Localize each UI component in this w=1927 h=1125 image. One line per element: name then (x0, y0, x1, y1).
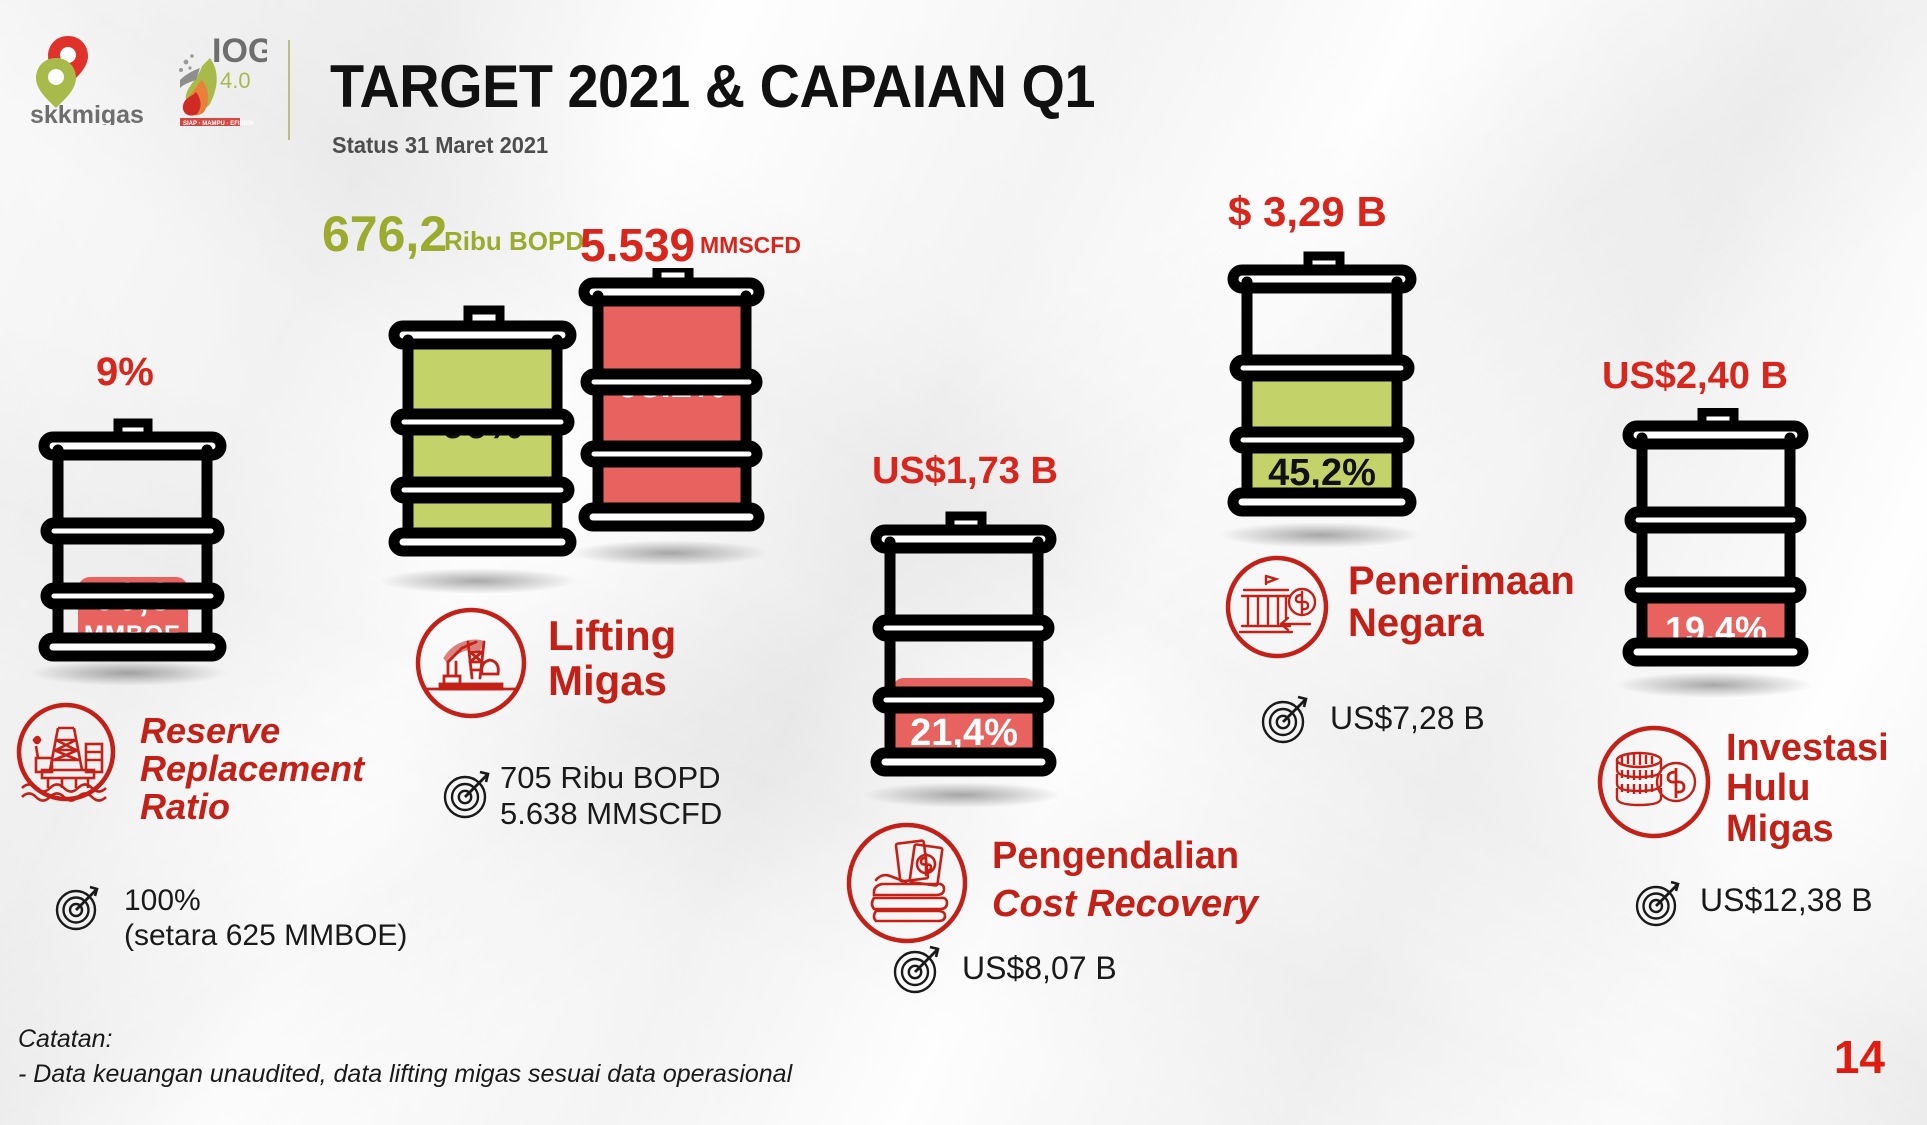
lifting-minyak-top-value: 676,2 (322, 205, 447, 263)
cost-recovery-caption-line1: Pengendalian (992, 836, 1239, 876)
cost-recovery-target-value: US$8,07 B (962, 950, 1117, 987)
investasi-caption: Investasi Hulu Migas (1726, 728, 1889, 849)
lifting-gas-barrel-outline (572, 268, 772, 543)
government-money-icon (1222, 552, 1332, 662)
penerimaan-negara-target-value: US$7,28 B (1330, 700, 1485, 737)
lifting-minyak-barrel-outline (380, 300, 585, 570)
slide-header: skkmigas IOG 4.0 SIAP · MAMPU · EFISIEN … (0, 0, 1927, 175)
cost-recovery-barrel-outline (864, 510, 1064, 788)
investasi-barrel-outline (1616, 408, 1816, 678)
barrel-penerimaan-negara: 45,2% (1220, 250, 1424, 528)
cost-recovery-target-icon (890, 940, 946, 996)
investasi-target-value: US$12,38 B (1700, 882, 1873, 919)
barrel-lifting-minyak: 96% (380, 300, 585, 570)
pumpjack-icon (412, 604, 530, 722)
penerimaan-negara-top-value: $ 3,29 B (1228, 188, 1387, 236)
lifting-gas-top-value: 5.539 (580, 218, 695, 272)
page-subtitle: Status 31 Maret 2021 (332, 132, 548, 159)
skkmigas-logo: skkmigas (28, 30, 153, 125)
offshore-rig-icon (14, 700, 119, 805)
svg-text:IOG: IOG (212, 32, 267, 70)
svg-text:4.0: 4.0 (220, 68, 251, 93)
lifting-gas-top-unit: MMSCFD (700, 232, 801, 259)
page-number: 14 (1834, 1030, 1885, 1084)
coins-dollar-icon (1594, 722, 1714, 842)
svg-text:skkmigas: skkmigas (30, 101, 144, 125)
lifting-migas-target-icon (440, 765, 496, 821)
penerimaan-negara-caption: Penerimaan Negara (1348, 560, 1575, 645)
barrel-lifting-gas: 98.2% (572, 268, 772, 543)
lifting-migas-caption: Lifting Migas (548, 614, 676, 703)
header-divider (288, 40, 290, 140)
barrel-pengendalian-cost-recovery: 21,4% (864, 510, 1064, 788)
lifting-migas-target-value: 705 Ribu BOPD 5.638 MMSCFD (500, 760, 722, 832)
barrel-investasi-hulu-migas: 19,4% (1616, 408, 1816, 678)
rrr-target-icon (52, 880, 104, 932)
rrr-top-value: 9% (96, 350, 154, 395)
iog40-logo: IOG 4.0 SIAP · MAMPU · EFISIEN (172, 28, 267, 128)
lifting-minyak-shadow (378, 568, 578, 594)
rrr-caption: Reserve Replacement Ratio (140, 712, 364, 826)
penerimaan-negara-target-icon (1258, 690, 1314, 746)
svg-text:SIAP · MAMPU · EFISIEN: SIAP · MAMPU · EFISIEN (183, 121, 254, 127)
barrel-reserve-replacement-ratio: 56,3 MMBOE (30, 410, 235, 675)
investasi-top-value: US$2,40 B (1602, 355, 1788, 398)
lifting-minyak-top-unit: Ribu BOPD (444, 226, 584, 257)
penerimaan-negara-barrel-outline (1220, 250, 1424, 528)
rrr-barrel-outline (30, 410, 235, 675)
cost-recovery-caption-line2: Cost Recovery (992, 884, 1258, 924)
page-title: TARGET 2021 & CAPAIAN Q1 (330, 52, 1095, 121)
footer-note: Catatan: - Data keuangan unaudited, data… (18, 1022, 792, 1091)
lifting-gas-shadow (570, 540, 770, 566)
cash-hand-icon (842, 818, 972, 948)
cost-recovery-top-value: US$1,73 B (872, 450, 1058, 493)
investasi-target-icon (1632, 875, 1686, 929)
rrr-target-value: 100% (setara 625 MMBOE) (124, 884, 407, 954)
